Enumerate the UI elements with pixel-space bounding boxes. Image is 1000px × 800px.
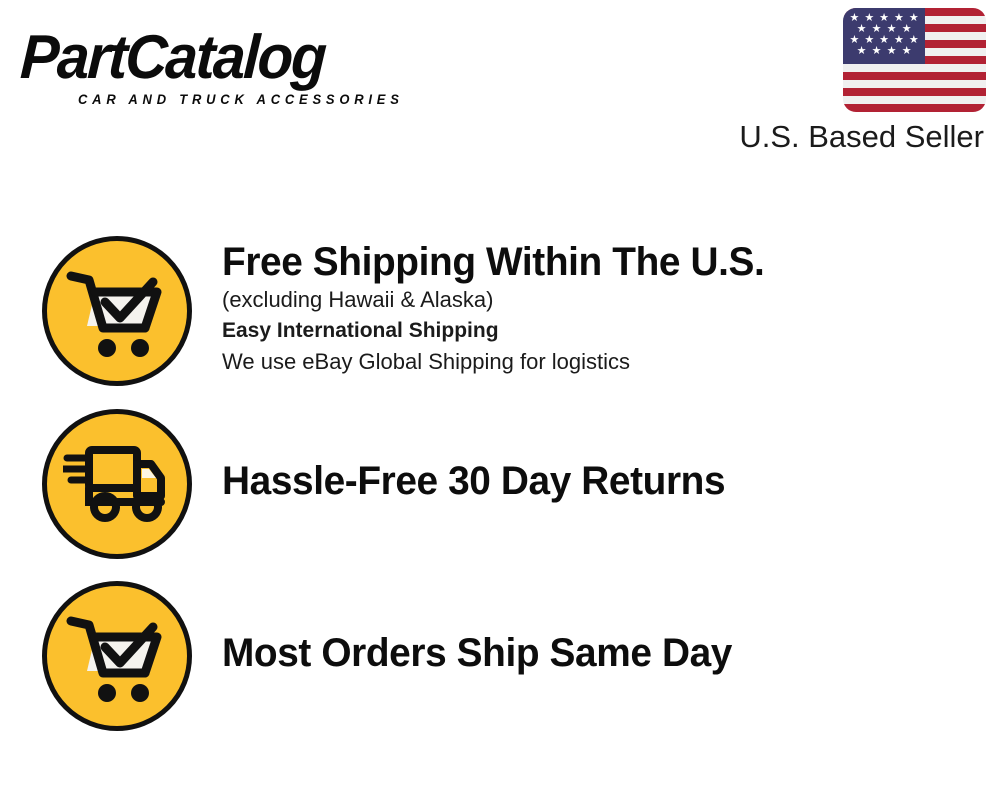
star-icon: ★ (902, 46, 912, 57)
feature-heading: Most Orders Ship Same Day (222, 631, 977, 675)
flag-canton: ★ ★ ★ ★ ★ ★ ★ ★ ★ ★ ★ ★ ★ ★ (843, 8, 925, 64)
shopping-cart-check-icon (42, 581, 192, 731)
page-header: PartCatalog CAR AND TRUCK ACCESSORIES ★ … (0, 0, 1000, 170)
seller-badge-label: U.S. Based Seller (726, 119, 986, 155)
star-icon: ★ (887, 46, 897, 57)
star-icon: ★ (872, 46, 882, 57)
feature-row: Free Shipping Within The U.S. (excluding… (0, 236, 1000, 386)
us-flag-icon: ★ ★ ★ ★ ★ ★ ★ ★ ★ ★ ★ ★ ★ ★ (843, 8, 986, 112)
feature-subline: We use eBay Global Shipping for logistic… (222, 346, 1000, 377)
feature-row: Most Orders Ship Same Day (0, 581, 1000, 731)
feature-text-block: Free Shipping Within The U.S. (excluding… (192, 236, 1000, 377)
feature-subline: (excluding Hawaii & Alaska) (222, 284, 1000, 315)
feature-heading: Free Shipping Within The U.S. (222, 240, 977, 284)
brand-logo[interactable]: PartCatalog CAR AND TRUCK ACCESSORIES (22, 26, 492, 116)
star-icon: ★ (857, 46, 867, 57)
feature-text-block: Hassle-Free 30 Day Returns (192, 409, 1000, 503)
brand-wordmark: PartCatalog (19, 26, 464, 90)
us-based-seller-badge: ★ ★ ★ ★ ★ ★ ★ ★ ★ ★ ★ ★ ★ ★ (726, 8, 986, 155)
brand-tagline: CAR AND TRUCK ACCESSORIES (78, 92, 404, 107)
feature-heading: Hassle-Free 30 Day Returns (222, 459, 977, 503)
delivery-truck-icon (42, 409, 192, 559)
feature-row: Hassle-Free 30 Day Returns (0, 409, 1000, 559)
feature-text-block: Most Orders Ship Same Day (192, 581, 1000, 675)
flag-star-row: ★ ★ ★ ★ (847, 46, 921, 57)
feature-subline: Easy International Shipping (222, 315, 1000, 346)
shopping-cart-check-icon (42, 236, 192, 386)
